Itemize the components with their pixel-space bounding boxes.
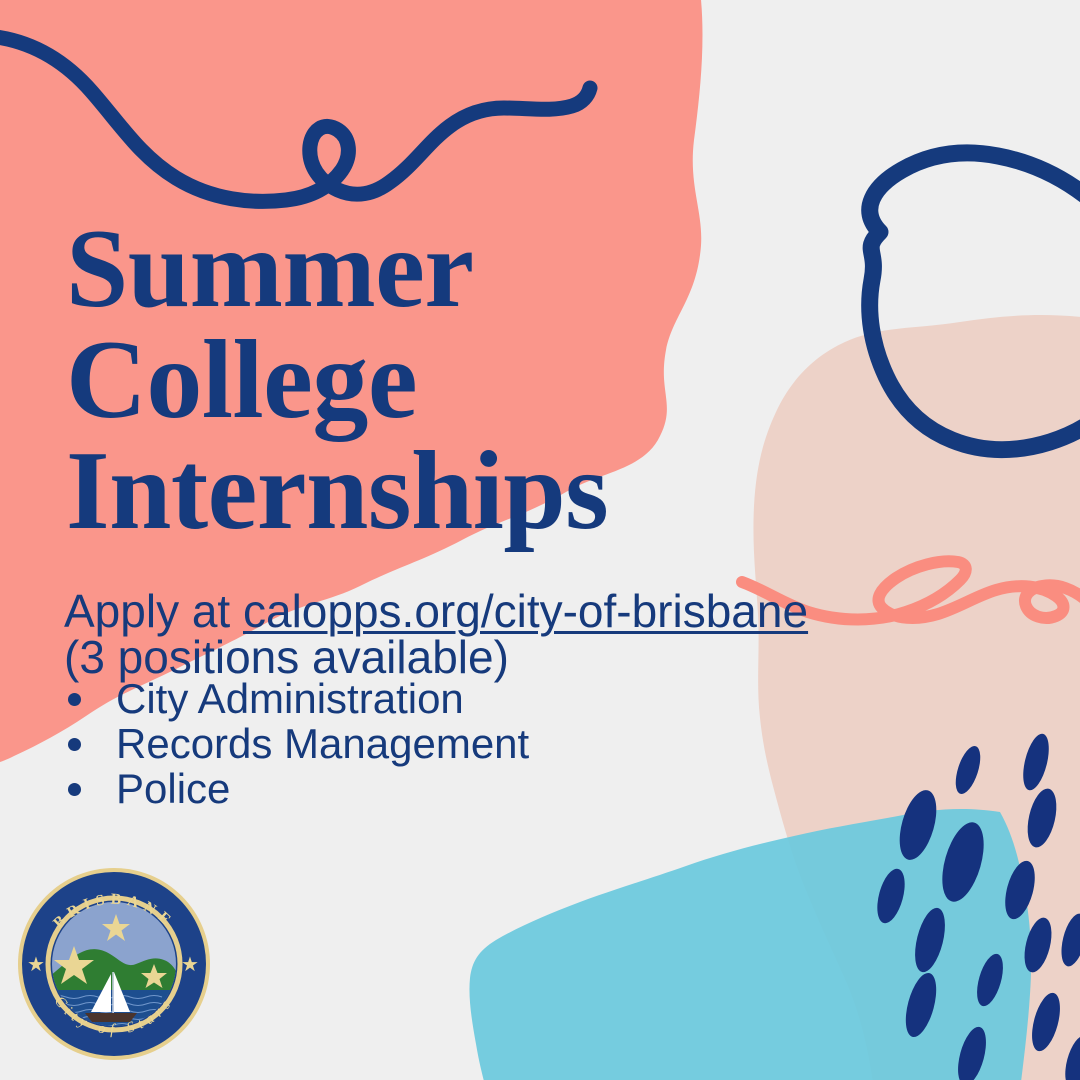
seal-left-star-icon: ★ xyxy=(27,954,45,976)
bullet-dot-icon xyxy=(68,693,81,706)
apply-line: Apply at calopps.org/city-of-brisbane xyxy=(64,588,808,634)
positions-note: (3 positions available) xyxy=(64,634,509,680)
poster-canvas: Summer College Internships Apply at calo… xyxy=(0,0,1080,1080)
bullet-dot-icon xyxy=(68,738,81,751)
list-item-label: Police xyxy=(116,765,230,812)
headline-line-1: Summer xyxy=(66,214,766,325)
list-item-label: City Administration xyxy=(116,675,464,722)
page-title: Summer College Internships xyxy=(66,214,766,547)
list-item: Police xyxy=(64,766,529,811)
bullet-dot-icon xyxy=(68,783,81,796)
city-of-brisbane-seal-logo: BRISBANE City of Stars ★ ★ xyxy=(14,864,214,1064)
headline-line-3: Internships xyxy=(66,436,766,547)
list-item: City Administration xyxy=(64,676,529,721)
list-item: Records Management xyxy=(64,721,529,766)
headline-line-2: College xyxy=(66,325,766,436)
seal-right-star-icon: ★ xyxy=(181,954,199,976)
apply-prefix-text: Apply at xyxy=(64,585,243,637)
positions-list: City Administration Records Management P… xyxy=(64,676,529,811)
apply-link[interactable]: calopps.org/city-of-brisbane xyxy=(243,585,808,637)
poster-content: Summer College Internships Apply at calo… xyxy=(0,0,1080,1080)
list-item-label: Records Management xyxy=(116,720,529,767)
